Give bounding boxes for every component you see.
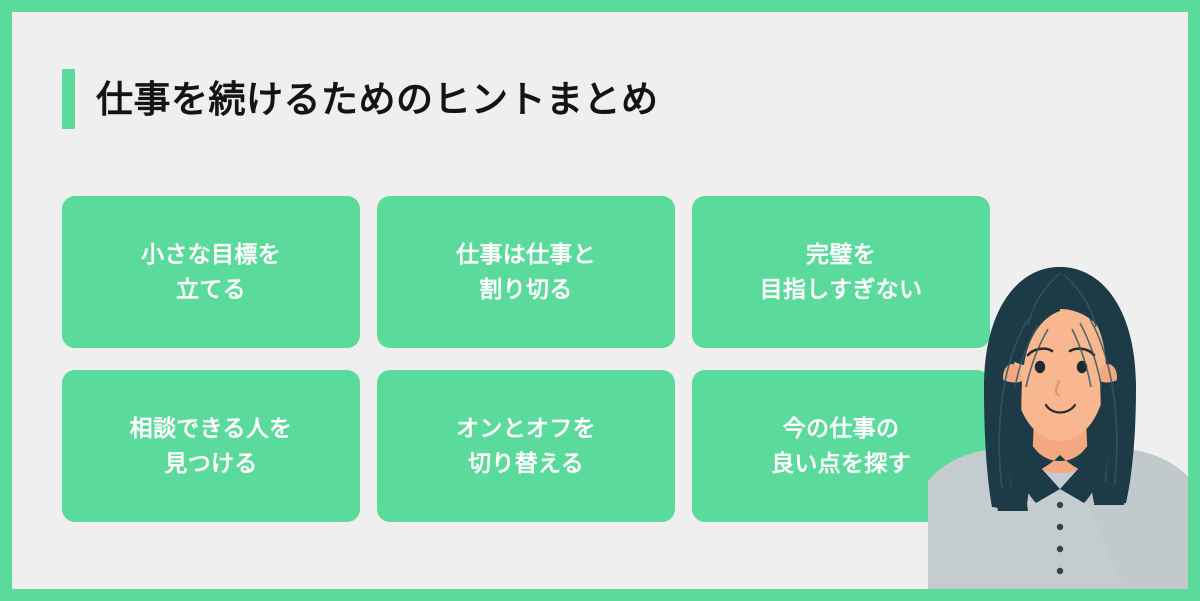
tip-card-line-2: 割り切る — [479, 272, 572, 307]
tip-card-find-someone-to-talk[interactable]: 相談できる人を 見つける — [62, 370, 360, 522]
tip-card-switch-on-off[interactable]: オンとオフを 切り替える — [377, 370, 675, 522]
page-title: 仕事を続けるためのヒントまとめ — [62, 67, 659, 131]
shirt-buttons — [1057, 502, 1063, 589]
hair-front — [988, 267, 1131, 511]
tip-card-find-good-points[interactable]: 今の仕事の 良い点を探す — [692, 370, 990, 522]
poster-frame: 仕事を続けるためのヒントまとめ 小さな目標を 立てる 仕事は仕事と 割り切る 完… — [0, 0, 1200, 601]
title-accent-bar-icon — [62, 69, 75, 129]
tip-card-line-1: 完璧を — [806, 237, 876, 272]
tip-card-line-1: オンとオフを — [456, 411, 596, 446]
neck — [1032, 409, 1088, 473]
tip-card-line-2: 切り替える — [468, 446, 584, 481]
tip-card-line-1: 今の仕事の — [783, 411, 900, 446]
face — [1003, 299, 1117, 441]
tip-card-line-2: 目指しすぎない — [760, 272, 923, 307]
poster-inner-area: 仕事を続けるためのヒントまとめ 小さな目標を 立てる 仕事は仕事と 割り切る 完… — [12, 12, 1188, 589]
tip-card-line-1: 小さな目標を — [141, 237, 281, 272]
tip-card-line-2: 立てる — [176, 272, 246, 307]
tips-card-grid: 小さな目標を 立てる 仕事は仕事と 割り切る 完璧を 目指しすぎない 相談できる… — [62, 196, 990, 522]
tip-card-set-small-goals[interactable]: 小さな目標を 立てる — [62, 196, 360, 348]
tip-card-line-1: 仕事は仕事と — [456, 237, 596, 272]
tip-card-separate-work[interactable]: 仕事は仕事と 割り切る — [377, 196, 675, 348]
eyebrows — [1028, 349, 1094, 355]
eyes — [1035, 361, 1087, 373]
mouth — [1046, 405, 1075, 413]
page-title-text: 仕事を続けるためのヒントまとめ — [96, 81, 659, 118]
tip-card-line-1: 相談できる人を — [130, 411, 293, 446]
nose — [1056, 381, 1059, 395]
shirt-collar — [1018, 445, 1102, 503]
tip-card-line-2: 見つける — [164, 446, 257, 481]
tip-card-line-2: 良い点を探す — [771, 446, 911, 481]
hair-back — [984, 267, 1136, 511]
tip-card-avoid-perfectionism[interactable]: 完璧を 目指しすぎない — [692, 196, 990, 348]
